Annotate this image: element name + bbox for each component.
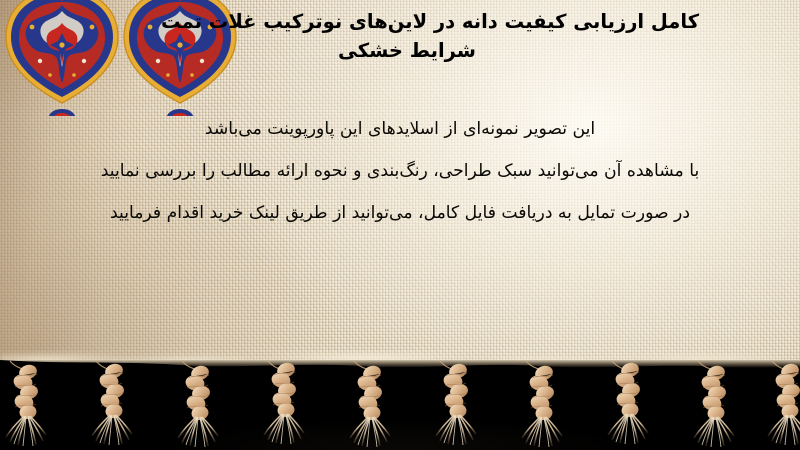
slide-body-line-2: با مشاهده آن می‌توانید سبک طراحی، رنگ‌بن… [40, 150, 760, 192]
slide-canvas: کامل ارزیابی کیفیت دانه در لاین‌های نوتر… [0, 0, 800, 450]
slide-body-text: این تصویر نمونه‌ای از اسلایدهای این پاور… [40, 108, 760, 234]
slide-title: کامل ارزیابی کیفیت دانه در لاین‌های نوتر… [60, 8, 800, 66]
slide-title-line-2: شرایط خشکی [60, 37, 800, 66]
slide-title-line-1: کامل ارزیابی کیفیت دانه در لاین‌های نوتر… [60, 8, 800, 37]
slide-body-line-1: این تصویر نمونه‌ای از اسلایدهای این پاور… [40, 108, 760, 150]
carpet-fringe-tassels [0, 360, 800, 450]
slide-body-line-3: در صورت تمایل به دریافت فایل کامل، می‌تو… [40, 192, 760, 234]
